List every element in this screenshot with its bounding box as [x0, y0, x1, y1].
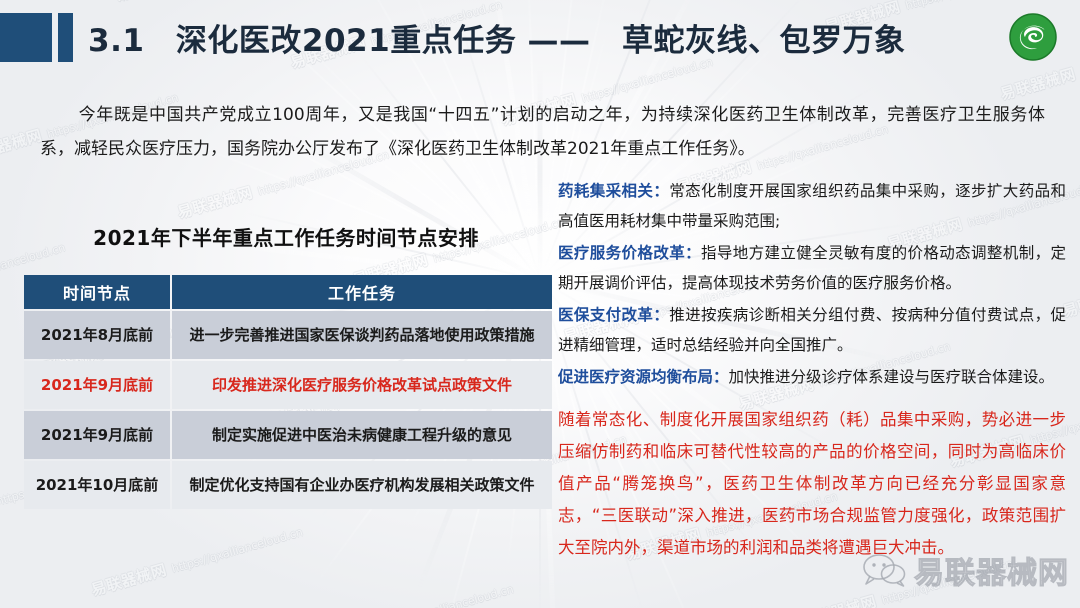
- cell-task: 进一步完善推进国家医保谈判药品落地使用政策措施: [172, 311, 552, 359]
- policy-bullet-label: 药耗集采相关：: [558, 182, 669, 200]
- policy-highlights-section: 药耗集采相关：常态化制度开展国家组织药品集中采购，逐步扩大药品和高值医用耗材集中…: [558, 176, 1066, 564]
- page-title: 3.1 深化医改2021重点任务 —— 草蛇灰线、包罗万象: [88, 13, 906, 62]
- table-row: 2021年9月底前制定实施促进中医治未病健康工程升级的意见: [24, 411, 552, 459]
- cell-time: 2021年8月底前: [24, 311, 170, 359]
- slide-header: 3.1 深化医改2021重点任务 —— 草蛇灰线、包罗万象: [0, 0, 1080, 76]
- watermark-row: 易联器械网 https://qxallianceloud.cn易联器械网 htt…: [38, 583, 1080, 608]
- column-header-task: 工作任务: [172, 275, 552, 309]
- table-row: 2021年9月底前印发推进深化医疗服务价格改革试点政策文件: [24, 361, 552, 409]
- column-header-time: 时间节点: [24, 275, 170, 309]
- policy-bullet: 促进医疗资源均衡布局：加快推进分级诊疗体系建设与医疗联合体建设。: [558, 362, 1066, 392]
- schedule-section: 2021年下半年重点工作任务时间节点安排 时间节点 工作任务 2021年8月底前…: [22, 222, 550, 511]
- cell-time: 2021年9月底前: [24, 411, 170, 459]
- table-header-row: 时间节点 工作任务: [24, 275, 552, 309]
- table-row: 2021年8月底前进一步完善推进国家医保谈判药品落地使用政策措施: [24, 311, 552, 359]
- policy-bullet-list: 药耗集采相关：常态化制度开展国家组织药品集中采购，逐步扩大药品和高值医用耗材集中…: [558, 176, 1066, 392]
- intro-text: 今年既是中国共产党成立100周年，又是我国“十四五”计划的启动之年，为持续深化医…: [40, 105, 1045, 159]
- cell-time: 2021年10月底前: [24, 461, 170, 509]
- slide-canvas: 易联器械网 https://qxallianceloud.cn易联器械网 htt…: [0, 0, 1080, 608]
- policy-bullet: 医保支付改革：推进按疾病诊断相关分组付费、按病种分值付费试点，促进精细管理，适时…: [558, 300, 1066, 360]
- policy-bullet: 医疗服务价格改革：指导地方建立健全灵敏有度的价格动态调整机制，定期开展调价评估，…: [558, 238, 1066, 298]
- green-e-logo-icon: [1008, 12, 1058, 62]
- cell-time: 2021年9月底前: [24, 361, 170, 409]
- policy-bullet: 药耗集采相关：常态化制度开展国家组织药品集中采购，逐步扩大药品和高值医用耗材集中…: [558, 176, 1066, 236]
- conclusion-paragraph: 随着常态化、制度化开展国家组织药（耗）品集中采购，势必进一步压缩仿制药和临床可替…: [558, 404, 1066, 564]
- intro-paragraph: 今年既是中国共产党成立100周年，又是我国“十四五”计划的启动之年，为持续深化医…: [40, 98, 1045, 166]
- site-watermark-text: 易联器械网 https://qxallianceloud.cn: [299, 577, 515, 608]
- cell-task: 制定优化支持国有企业办医疗机构发展相关政策文件: [172, 461, 552, 509]
- header-accent-block: [0, 13, 52, 62]
- policy-bullet-label: 医保支付改革：: [558, 306, 669, 324]
- table-caption: 2021年下半年重点工作任务时间节点安排: [22, 222, 550, 251]
- header-accent-bar: [58, 13, 73, 62]
- schedule-table: 时间节点 工作任务 2021年8月底前进一步完善推进国家医保谈判药品落地使用政策…: [22, 273, 554, 511]
- table-row: 2021年10月底前制定优化支持国有企业办医疗机构发展相关政策文件: [24, 461, 552, 509]
- policy-bullet-body: 加快推进分级诊疗体系建设与医疗联合体建设。: [729, 368, 1055, 386]
- policy-bullet-label: 促进医疗资源均衡布局：: [558, 368, 729, 386]
- site-watermark-text: 易联器械网 https://qxallianceloud.cn: [89, 520, 305, 601]
- cell-task: 印发推进深化医疗服务价格改革试点政策文件: [172, 361, 552, 409]
- cell-task: 制定实施促进中医治未病健康工程升级的意见: [172, 411, 552, 459]
- policy-bullet-label: 医疗服务价格改革：: [558, 244, 701, 262]
